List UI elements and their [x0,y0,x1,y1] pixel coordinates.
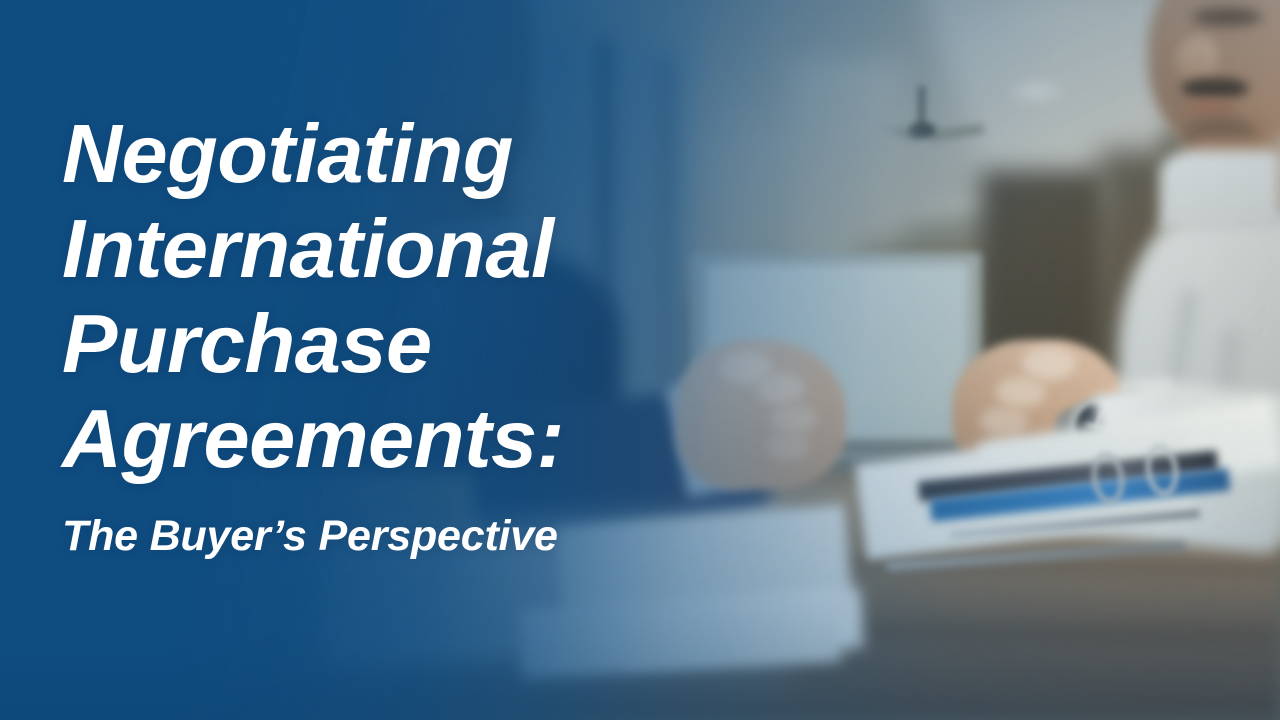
headline-line-3: Purchase [62,296,762,391]
headline-line-1: Negotiating [62,106,762,201]
page-title: Negotiating International Purchase Agree… [62,106,762,486]
headline-line-4: Agreements: [62,391,762,486]
title-slide: Negotiating International Purchase Agree… [0,0,1280,720]
headline-line-2: International [62,201,762,296]
title-text-block: Negotiating International Purchase Agree… [62,106,762,562]
page-subtitle: The Buyer’s Perspective [62,510,762,562]
